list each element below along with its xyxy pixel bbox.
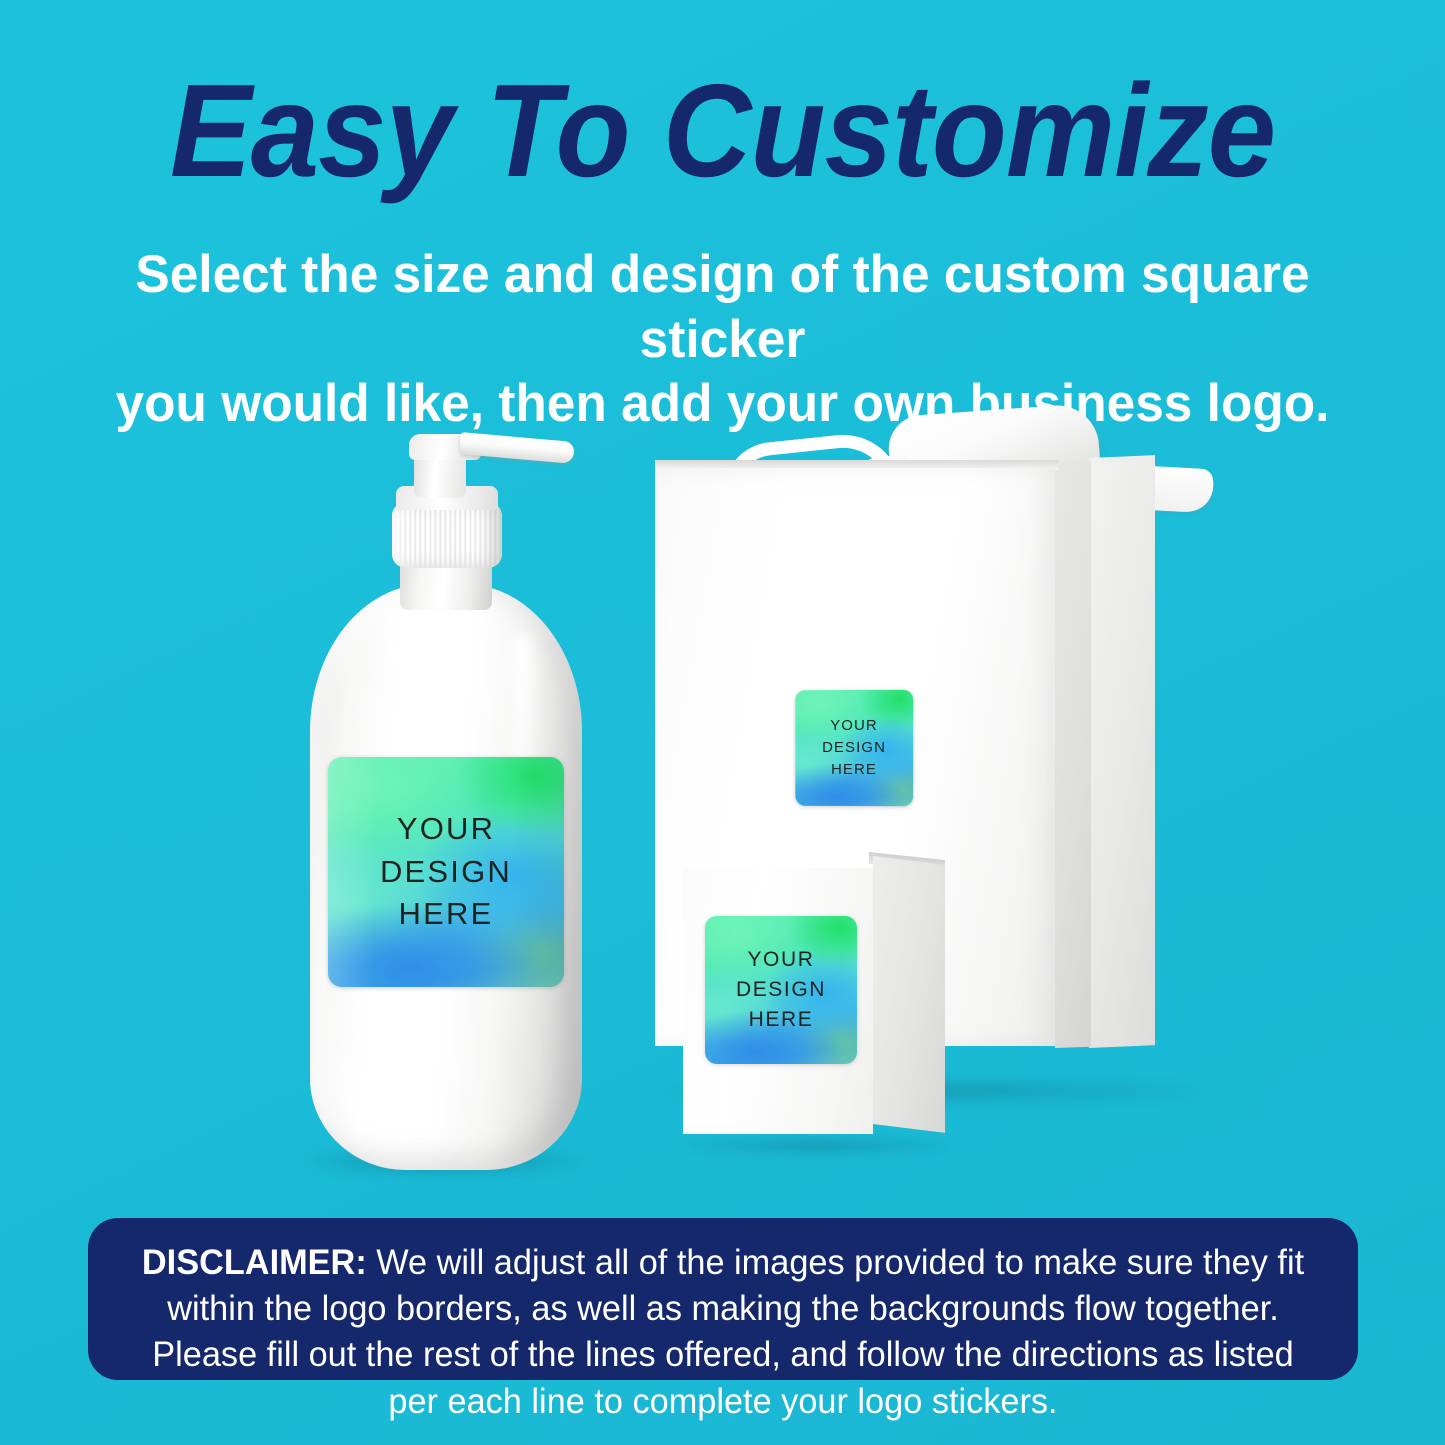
sticker-line-1: YOUR [830, 715, 878, 737]
sticker-line-1: YOUR [397, 808, 495, 851]
sticker-line-3: HERE [749, 1005, 814, 1035]
sticker-text: YOUR DESIGN HERE [795, 690, 913, 807]
pump-collar-icon [392, 502, 502, 568]
disclaimer-prefix: DISCLAIMER: [142, 1243, 367, 1282]
small-box-side [873, 856, 945, 1133]
disclaimer-text: DISCLAIMER: We will adjust all of the im… [136, 1240, 1310, 1425]
gift-box-side-inner [1055, 461, 1091, 1048]
sticker-line-3: HERE [831, 759, 877, 781]
gift-box-sticker: YOUR DESIGN HERE [795, 690, 913, 807]
small-box-sticker: YOUR DESIGN HERE [705, 916, 857, 1064]
pump-bottle: YOUR DESIGN HERE [296, 424, 596, 1184]
sticker-line-3: HERE [399, 893, 494, 936]
sticker-line-2: DESIGN [380, 851, 512, 894]
sticker-line-2: DESIGN [736, 975, 826, 1005]
disclaimer-banner: DISCLAIMER: We will adjust all of the im… [88, 1218, 1358, 1380]
promo-infographic: Easy To Customize Select the size and de… [0, 0, 1445, 1445]
bottle-label-sticker: YOUR DESIGN HERE [328, 757, 564, 987]
sticker-line-2: DESIGN [822, 737, 886, 759]
small-product-box: YOUR DESIGN HERE [683, 856, 953, 1156]
sticker-text: YOUR DESIGN HERE [328, 757, 564, 987]
small-box-shadow [687, 1136, 947, 1156]
sticker-line-1: YOUR [747, 945, 814, 975]
sticker-text: YOUR DESIGN HERE [705, 916, 857, 1064]
gift-box-side-outer [1089, 455, 1155, 1048]
